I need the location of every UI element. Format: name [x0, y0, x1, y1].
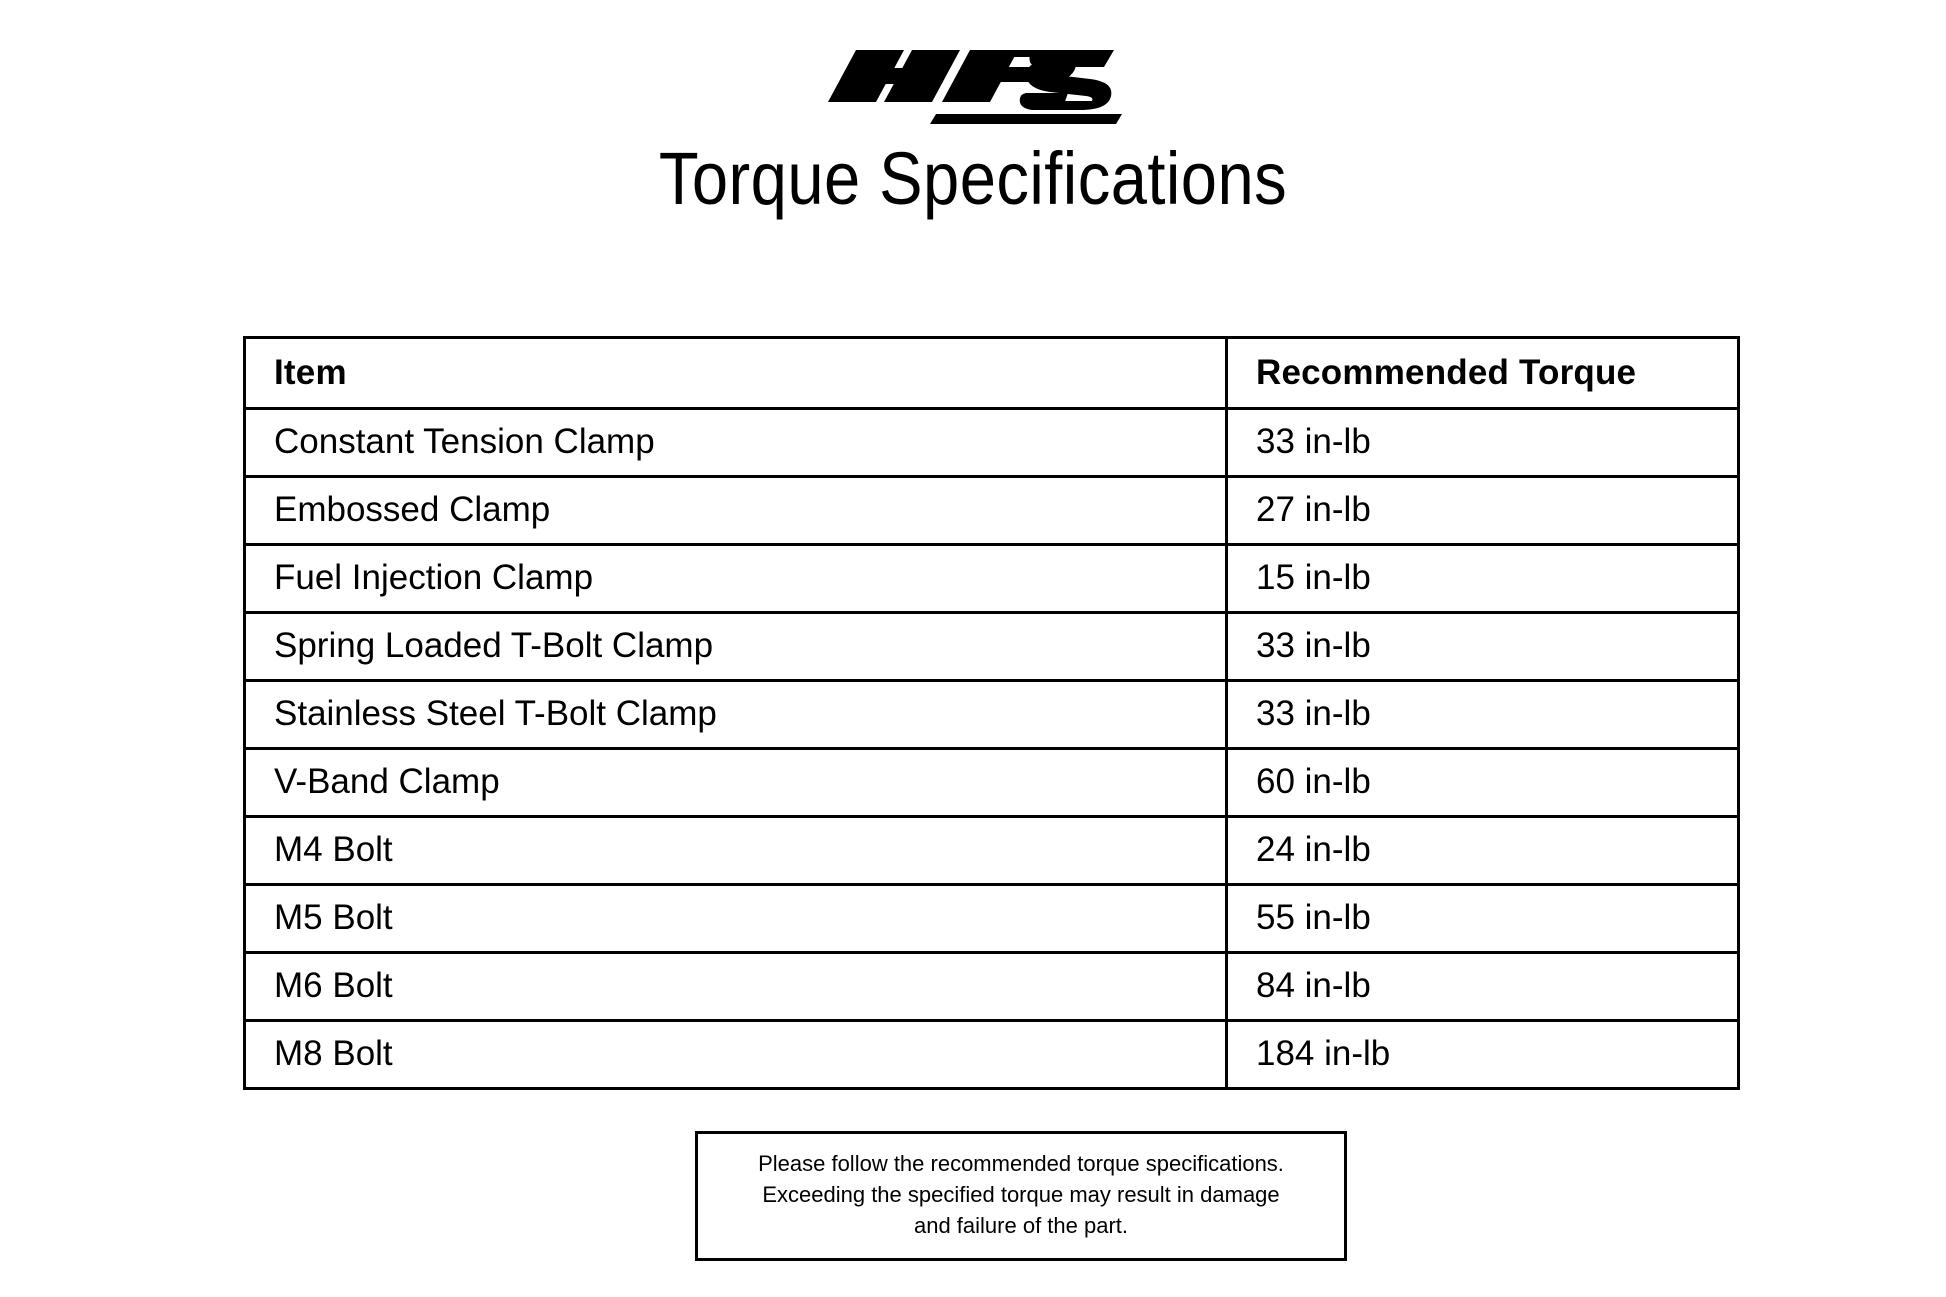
column-header-recommended-torque: Recommended Torque [1227, 338, 1739, 409]
warning-note-box: Please follow the recommended torque spe… [695, 1131, 1347, 1261]
cell-torque: 33 in-lb [1227, 409, 1739, 477]
cell-torque: 33 in-lb [1227, 613, 1739, 681]
brand-logo [0, 38, 1946, 128]
cell-item: M5 Bolt [245, 885, 1227, 953]
table-header-row: Item Recommended Torque [245, 338, 1739, 409]
torque-specifications-table: Item Recommended Torque Constant Tension… [243, 336, 1737, 1090]
cell-torque: 24 in-lb [1227, 817, 1739, 885]
table-row: M6 Bolt 84 in-lb [245, 953, 1739, 1021]
cell-item: M4 Bolt [245, 817, 1227, 885]
cell-torque: 184 in-lb [1227, 1021, 1739, 1089]
table-row: Spring Loaded T-Bolt Clamp 33 in-lb [245, 613, 1739, 681]
cell-item: Spring Loaded T-Bolt Clamp [245, 613, 1227, 681]
note-line: Please follow the recommended torque spe… [708, 1148, 1334, 1179]
note-line: Exceeding the specified torque may resul… [708, 1179, 1334, 1210]
hps-logo-icon [818, 40, 1128, 126]
table-row: Embossed Clamp 27 in-lb [245, 477, 1739, 545]
cell-item: Constant Tension Clamp [245, 409, 1227, 477]
column-header-item: Item [245, 338, 1227, 409]
cell-torque: 84 in-lb [1227, 953, 1739, 1021]
cell-item: M8 Bolt [245, 1021, 1227, 1089]
table-row: V-Band Clamp 60 in-lb [245, 749, 1739, 817]
cell-item: Stainless Steel T-Bolt Clamp [245, 681, 1227, 749]
table-row: Stainless Steel T-Bolt Clamp 33 in-lb [245, 681, 1739, 749]
table-row: M8 Bolt 184 in-lb [245, 1021, 1739, 1089]
cell-item: V-Band Clamp [245, 749, 1227, 817]
cell-torque: 15 in-lb [1227, 545, 1739, 613]
cell-torque: 55 in-lb [1227, 885, 1739, 953]
cell-item: Fuel Injection Clamp [245, 545, 1227, 613]
cell-item: Embossed Clamp [245, 477, 1227, 545]
page-title: Torque Specifications [117, 142, 1829, 216]
table-body: Constant Tension Clamp 33 in-lb Embossed… [245, 409, 1739, 1089]
note-line: and failure of the part. [708, 1210, 1334, 1241]
table-row: Fuel Injection Clamp 15 in-lb [245, 545, 1739, 613]
cell-torque: 27 in-lb [1227, 477, 1739, 545]
cell-torque: 60 in-lb [1227, 749, 1739, 817]
table-row: M4 Bolt 24 in-lb [245, 817, 1739, 885]
cell-item: M6 Bolt [245, 953, 1227, 1021]
table-row: Constant Tension Clamp 33 in-lb [245, 409, 1739, 477]
table-row: M5 Bolt 55 in-lb [245, 885, 1739, 953]
cell-torque: 33 in-lb [1227, 681, 1739, 749]
